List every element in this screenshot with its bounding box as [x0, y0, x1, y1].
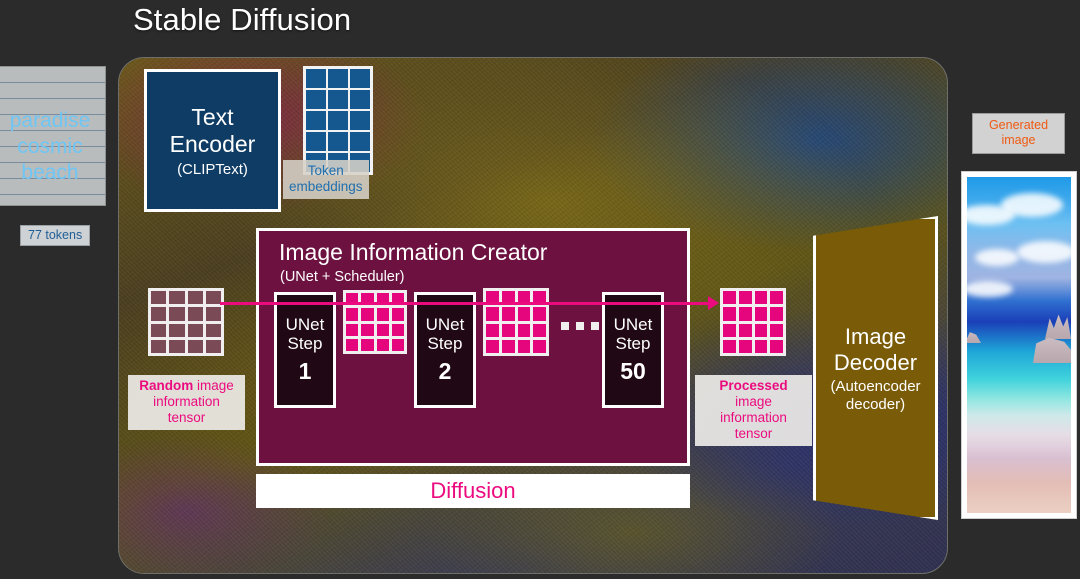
unet-step-1: UNet Step 1 — [274, 292, 336, 408]
processed-tensor-rest: image — [735, 394, 772, 409]
unet-step-2-line-2: Step — [428, 334, 463, 353]
diffusion-label: Diffusion — [430, 478, 515, 504]
generated-image-frame — [961, 171, 1077, 519]
image-decoder-block: Image Decoder (Autoencoder decoder) — [813, 216, 938, 520]
generated-image — [967, 177, 1071, 513]
unet-step-1-line-2: Step — [288, 334, 323, 353]
unet-step-50-line-2: Step — [616, 334, 651, 353]
tokens-badge: 77 tokens — [20, 225, 90, 246]
processed-tensor-grid — [720, 288, 786, 356]
decoder-text: Image Decoder (Autoencoder decoder) — [813, 216, 938, 520]
ellipsis-indicator — [561, 322, 599, 330]
unet-step-1-line-1: UNet — [286, 315, 325, 334]
intermediate-tensor-1 — [343, 290, 407, 354]
flow-arrow-line — [220, 302, 713, 305]
random-tensor-grid — [148, 288, 224, 356]
intermediate-tensor-2 — [483, 288, 549, 356]
random-tensor-caption: Random image information tensor — [128, 375, 245, 430]
iic-subtitle: (UNet + Scheduler) — [280, 269, 405, 285]
unet-step-50-number: 50 — [620, 358, 646, 385]
generated-badge-line-1: Generated — [976, 118, 1061, 133]
random-tensor-rest: image — [193, 378, 234, 393]
unet-step-50-line-1: UNet — [614, 315, 653, 334]
token-embeddings-label-line-2: embeddings — [289, 179, 363, 195]
unet-step-2-number: 2 — [439, 358, 452, 385]
decoder-sub-2: decoder) — [830, 396, 920, 414]
unet-step-2: UNet Step 2 — [414, 292, 476, 408]
random-tensor-line-2: information tensor — [133, 394, 240, 426]
decoder-sub-1: (Autoencoder — [830, 378, 920, 396]
prompt-line-3: beach — [0, 160, 105, 185]
prompt-line-1: paradise — [0, 108, 105, 133]
decoder-line-1: Image — [834, 324, 917, 350]
token-embeddings-label: Token embeddings — [283, 160, 369, 199]
decoder-line-2: Decoder — [834, 350, 917, 376]
unet-step-2-line-1: UNet — [426, 315, 465, 334]
unet-step-50: UNet Step 50 — [602, 292, 664, 408]
generated-image-badge: Generated image — [972, 113, 1065, 154]
random-tensor-bold: Random — [139, 378, 193, 393]
page-title: Stable Diffusion — [133, 2, 351, 38]
prompt-line-2: cosmic — [0, 134, 105, 159]
processed-tensor-caption: Processed image information tensor — [695, 375, 812, 446]
processed-tensor-line-2: information tensor — [700, 410, 807, 442]
text-encoder-line-2: Encoder — [170, 131, 256, 158]
text-encoder-block: Text Encoder (CLIPText) — [144, 69, 281, 212]
text-encoder-line-1: Text — [170, 104, 256, 131]
processed-tensor-bold: Processed — [719, 378, 787, 393]
text-encoder-subtitle: (CLIPText) — [177, 161, 248, 178]
prompt-card: paradise cosmic beach — [0, 66, 106, 206]
iic-title: Image Information Creator — [279, 239, 547, 266]
flow-arrow-head — [708, 296, 719, 310]
unet-step-1-number: 1 — [299, 358, 312, 385]
diagram-canvas: Stable Diffusion paradise cosmic beach 7… — [0, 0, 1080, 579]
token-embeddings-grid — [303, 66, 373, 175]
diffusion-bar: Diffusion — [256, 474, 690, 508]
generated-badge-line-2: image — [976, 133, 1061, 148]
token-embeddings-label-line-1: Token — [289, 163, 363, 179]
